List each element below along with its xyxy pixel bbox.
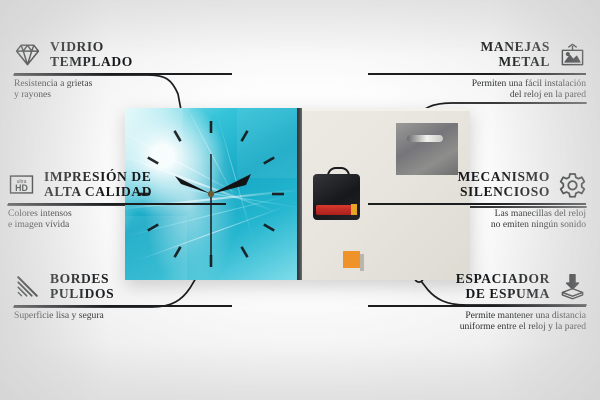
feature-espaciador-desc: Permite mantener una distancia uniforme … <box>368 310 586 333</box>
feature-manejas-header: MANEJAS METAL <box>368 40 586 69</box>
infographic-canvas: VIDRIO TEMPLADO Resistencia a grietas y … <box>0 0 600 400</box>
feature-manejas-desc: Permiten una fácil instalación del reloj… <box>368 78 586 101</box>
feature-impresion-header: ultra HD IMPRESIÓN DE ALTA CALIDAD <box>8 170 226 199</box>
feature-manejas: MANEJAS METAL Permiten una fácil instala… <box>368 40 586 100</box>
feature-espaciador: ESPACIADOR DE ESPUMA Permite mantener un… <box>368 272 586 332</box>
feature-vidrio-title: VIDRIO TEMPLADO <box>50 40 133 69</box>
ultra-hd-icon: ultra HD <box>8 171 35 198</box>
feature-bordes-desc: Superficie lisa y segura <box>14 310 232 321</box>
foam-spacer-shadow <box>360 254 364 271</box>
feature-impresion: ultra HD IMPRESIÓN DE ALTA CALIDAD Color… <box>8 170 226 230</box>
feature-bordes-title: BORDES PULIDOS <box>50 272 114 301</box>
feature-espaciador-header: ESPACIADOR DE ESPUMA <box>368 272 586 301</box>
picture-frame-icon <box>559 41 586 68</box>
feature-impresion-desc: Colores intensos e imagen vívida <box>8 208 226 231</box>
feature-bordes-rule <box>14 305 232 307</box>
feature-mecanismo-header: MECANISMO SILENCIOSO <box>368 170 586 199</box>
feature-vidrio-header: VIDRIO TEMPLADO <box>14 40 232 69</box>
feature-bordes-header: BORDES PULIDOS <box>14 272 232 301</box>
foam-spacer <box>343 251 360 268</box>
feature-vidrio-desc: Resistencia a grietas y rayones <box>14 78 232 101</box>
feature-mecanismo-title: MECANISMO SILENCIOSO <box>458 170 550 199</box>
feature-vidrio: VIDRIO TEMPLADO Resistencia a grietas y … <box>14 40 232 100</box>
foam-spacer-icon <box>559 273 586 300</box>
metal-hanger <box>396 123 458 175</box>
feature-manejas-title: MANEJAS METAL <box>481 40 550 69</box>
diamond-icon <box>14 41 41 68</box>
feature-impresion-title: IMPRESIÓN DE ALTA CALIDAD <box>44 170 152 199</box>
feature-mecanismo-desc: Las manecillas del reloj no emiten ningú… <box>368 208 586 231</box>
feature-mecanismo: MECANISMO SILENCIOSO Las manecillas del … <box>368 170 586 230</box>
feature-mecanismo-rule <box>368 203 586 205</box>
hanger-slot <box>407 135 443 142</box>
feature-vidrio-rule <box>14 73 232 75</box>
feature-manejas-rule <box>368 73 586 75</box>
battery-terminal <box>351 204 357 215</box>
polished-edges-icon <box>14 273 41 300</box>
feature-espaciador-rule <box>368 305 586 307</box>
feature-bordes: BORDES PULIDOS Superficie lisa y segura <box>14 272 232 321</box>
gear-icon <box>559 171 586 198</box>
ultra-hd-icon-bottom: HD <box>15 183 28 193</box>
feature-espaciador-title: ESPACIADOR DE ESPUMA <box>456 272 550 301</box>
back-panel-top-edge <box>302 108 470 111</box>
feature-impresion-rule <box>8 203 226 205</box>
